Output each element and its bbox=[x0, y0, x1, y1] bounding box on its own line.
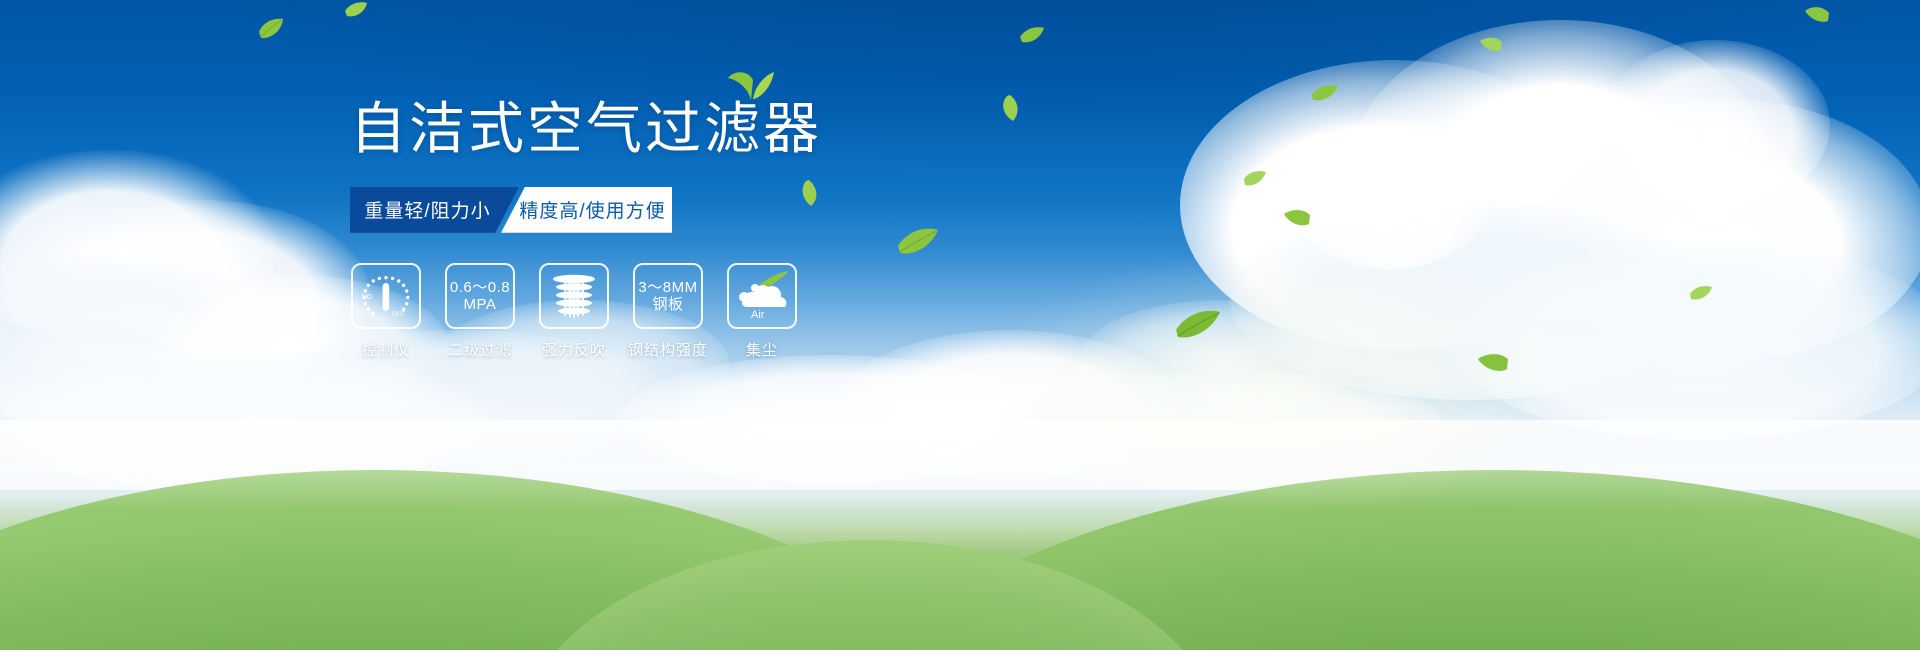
feature-caption: 集尘 bbox=[746, 339, 778, 360]
feature-icon-box: NO OFF bbox=[351, 263, 421, 329]
leaf-icon bbox=[1690, 285, 1712, 301]
dust-cloud-icon: Air bbox=[733, 271, 791, 321]
feature-item-dust-collection[interactable]: Air 集尘 bbox=[726, 263, 798, 360]
leaf-icon bbox=[1478, 352, 1508, 374]
feature-caption: 强力反吹 bbox=[542, 339, 606, 360]
feature-icon-box: 3〜8MM 钢板 bbox=[633, 263, 703, 329]
grass-field bbox=[0, 420, 1920, 650]
feature-item-secondary-filtration[interactable]: 0.6〜0.8 MPA 二级过滤 bbox=[444, 263, 516, 360]
svg-text:NO: NO bbox=[362, 294, 373, 301]
leaf-icon bbox=[1805, 5, 1829, 24]
feature-icon-box: Air bbox=[727, 263, 797, 329]
feature-list: NO OFF 控制仪 0.6〜0.8 MPA 二级过滤 bbox=[350, 263, 1050, 360]
leaf-icon bbox=[1244, 170, 1266, 187]
feature-item-control-instrument[interactable]: NO OFF 控制仪 bbox=[350, 263, 422, 360]
svg-text:Air: Air bbox=[751, 309, 765, 321]
title-wrapper: 自洁式空气过滤器 bbox=[350, 100, 822, 159]
feature-caption: 控制仪 bbox=[362, 339, 410, 360]
svg-text:OFF: OFF bbox=[392, 311, 405, 318]
leaf-icon bbox=[1284, 208, 1310, 228]
feature-caption: 钢结构强度 bbox=[623, 339, 713, 360]
leaf-icon bbox=[1020, 26, 1044, 44]
sprout-leaf-icon bbox=[728, 66, 774, 100]
leaf-icon bbox=[1480, 36, 1502, 53]
tag-precision-convenience[interactable]: 精度高/使用方便 bbox=[501, 187, 672, 233]
pressure-value-line1: 0.6〜0.8 bbox=[450, 279, 510, 296]
steel-value-line2: 钢板 bbox=[652, 296, 683, 313]
leaf-icon bbox=[345, 2, 367, 18]
banner-content: 自洁式空气过滤器 重量轻/阻力小 精度高/使用方便 bbox=[350, 100, 1050, 360]
leaf-icon bbox=[1312, 84, 1338, 102]
feature-caption: 二级过滤 bbox=[448, 339, 512, 360]
hero-banner: 自洁式空气过滤器 重量轻/阻力小 精度高/使用方便 bbox=[0, 0, 1920, 650]
leaf-icon bbox=[258, 18, 284, 40]
feature-item-strong-backblow[interactable]: 强力反吹 bbox=[538, 263, 610, 360]
power-dial-icon: NO OFF bbox=[358, 271, 414, 321]
coil-filter-icon bbox=[551, 271, 597, 321]
feature-item-steel-strength[interactable]: 3〜8MM 钢板 钢结构强度 bbox=[632, 263, 704, 360]
feature-icon-box bbox=[539, 263, 609, 329]
feature-icon-box: 0.6〜0.8 MPA bbox=[445, 263, 515, 329]
steel-value-line1: 3〜8MM bbox=[638, 279, 697, 296]
pressure-value-line2: MPA bbox=[464, 296, 497, 313]
page-title: 自洁式空气过滤器 bbox=[350, 100, 822, 159]
tag-bar: 重量轻/阻力小 精度高/使用方便 bbox=[350, 187, 672, 233]
tag-weight-resistance[interactable]: 重量轻/阻力小 bbox=[350, 187, 519, 233]
leaf-icon bbox=[1176, 310, 1220, 340]
